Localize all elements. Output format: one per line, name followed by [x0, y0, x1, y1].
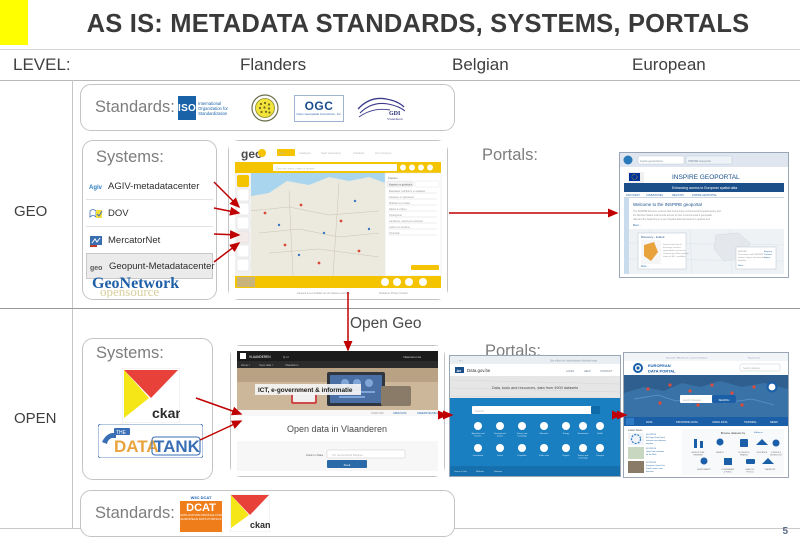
open-systems-label: Systems:	[96, 344, 164, 363]
svg-text:states of EU - available: states of EU - available	[663, 255, 686, 258]
geonetwork-logo-subtext: opensource	[100, 284, 159, 298]
slide-root: AS IS: METADATA STANDARDS, SYSTEMS, PORT…	[0, 0, 800, 546]
svg-text:technology: technology	[517, 435, 526, 438]
svg-text:Open data >: Open data >	[259, 363, 274, 367]
svg-text:OVER ONS: OVER ONS	[371, 412, 384, 415]
svg-text:Search datasets: Search datasets	[743, 367, 761, 370]
svg-text:PROVIDING DATA: PROVIDING DATA	[676, 420, 698, 424]
edp-title-line2: DATA PORTAL	[648, 369, 676, 374]
list-item[interactable]: Agiv AGIV-metadatacenter	[86, 173, 213, 199]
svg-text:Zoek een adres, plaats of perc: Zoek een adres, plaats of perceel	[276, 167, 315, 171]
open-data-search-button: Zoek	[344, 463, 351, 467]
svg-text:Vlaanderen: Vlaanderen	[285, 363, 299, 367]
svg-text:REGISTRY: REGISTRY	[672, 194, 685, 197]
svg-text:Disclaimer Privacy Contact: Disclaimer Privacy Contact	[379, 292, 408, 295]
ckan-logo-text-small: ckan	[250, 520, 270, 530]
svg-text:01/12/2016: 01/12/2016	[646, 462, 657, 464]
open-standards-label: Standards:	[95, 504, 175, 523]
svg-text:TANK: TANK	[154, 437, 201, 456]
iso-logo: ISO International Organization for Stand…	[178, 95, 236, 121]
svg-text:Ondergrond: Ondergrond	[389, 214, 402, 217]
svg-text:Adressen en gebouwen: Adressen en gebouwen	[389, 196, 415, 199]
open-data-banner-text: ICT, e-government & informatie	[258, 387, 353, 394]
svg-text:Vlaanderen.be: Vlaanderen.be	[403, 355, 422, 359]
svg-text:Newsletter FAQ Events Conta: Newsletter FAQ Events Contact Feedback	[666, 357, 708, 360]
european-data-portal-canvas: Newsletter FAQ Events Contact Feedback E…	[624, 353, 788, 477]
column-header-flanders: Flanders	[240, 50, 306, 80]
svg-text:More ...: More ...	[633, 223, 642, 227]
row-label-open: OPEN	[14, 410, 57, 427]
svg-text:the Member States instruments: the Member States instruments access to …	[633, 214, 712, 217]
svg-text:The INSPIRE Directive ensures: The INSPIRE Directive ensures that Commu…	[633, 210, 721, 213]
inspire-geoportal-screenshot[interactable]: inspire-geoportal.ec... INSPIRE Geoporta…	[619, 152, 789, 278]
svg-text:Vb. Gezondheid Belgium: Vb. Gezondheid Belgium	[332, 453, 364, 457]
svg-text:inspire-geoportal.ec...: inspire-geoportal.ec...	[640, 159, 665, 163]
svg-text:Environment: Environment	[578, 432, 589, 435]
svg-text:Discovery - Ireland: Discovery - Ireland	[641, 235, 665, 239]
dcat-badge: W3C DCAT	[180, 494, 222, 501]
page-number: 5	[782, 526, 788, 537]
svg-text:Search and view of: Search and view of	[663, 243, 682, 246]
svg-text:Search: Search	[475, 409, 484, 413]
svg-text:Enhancing access to European s: Enhancing access to European spatial dat…	[672, 186, 737, 190]
svg-text:Q nl: Q nl	[283, 355, 289, 359]
mercatornet-icon	[89, 234, 104, 247]
svg-text:Follow us: Follow us	[754, 432, 762, 434]
svg-text:Website: Website	[476, 470, 485, 473]
column-header-belgian: Belgian	[452, 50, 509, 80]
datagovbe-title-text: Data.gov.be	[467, 368, 491, 373]
geo-standards-logos: ISO International Organization for Stand…	[178, 89, 408, 127]
svg-text:Health: Health	[597, 432, 602, 435]
svg-text:TECHNOLOGY: TECHNOLOGY	[770, 455, 783, 457]
svg-text:Population: Population	[518, 454, 527, 457]
data-gov-be-screenshot[interactable]: ← → ⟳ ⌂ Site officiel de l'administratio…	[449, 355, 621, 477]
svg-text:Kaarten en gebieden: Kaarten en gebieden	[389, 184, 413, 187]
svg-text:Kaart toepassing: Kaart toepassing	[321, 151, 341, 155]
svg-text:ENVIRONMENT: ENVIRONMENT	[697, 469, 711, 471]
svg-text:Landbouw, visserij en economie: Landbouw, visserij en economie	[389, 220, 424, 223]
svg-text:Onderwijs: Onderwijs	[389, 232, 400, 235]
svg-text:Public order: Public order	[539, 454, 549, 457]
svg-text:themes, layers and metadata: themes, layers and metadata	[738, 256, 767, 259]
svg-text:Actualiteit: Actualiteit	[353, 151, 365, 155]
edp-title-line1: EUROPEAN	[648, 363, 671, 368]
open-data-search-label: Zoek in Data	[306, 453, 323, 457]
geo-portals-label: Portals:	[482, 146, 538, 165]
open-geo-transition-label: Open Geo	[350, 315, 422, 333]
svg-text:Discoveries with INSPIRE: Discoveries with INSPIRE	[738, 253, 764, 256]
list-item-label: AGIV-metadatacenter	[108, 181, 199, 192]
svg-text:FISHERIES: FISHERIES	[693, 455, 703, 457]
svg-text:01/12/2016: 01/12/2016	[646, 448, 657, 450]
svg-text:Layers: Layers	[764, 256, 771, 259]
svg-text:Portal creates new: Portal creates new	[646, 467, 663, 470]
open-standards-logos: W3C DCAT DCAT APPLICATION PROFILE FOR EU…	[180, 493, 270, 533]
svg-text:& PUBLIC: & PUBLIC	[724, 472, 733, 474]
svg-text:EDUCATION: EDUCATION	[757, 451, 768, 454]
svg-text:discovery services: discovery services	[663, 246, 682, 249]
svg-text:Vlaanderen: Vlaanderen	[387, 117, 403, 121]
svg-text:FINANCE: FINANCE	[740, 454, 749, 457]
svg-text:INSPIRE: INSPIRE	[738, 251, 747, 253]
datagovbe-tagline-text: Data, tools and resources, data from 490…	[492, 386, 578, 390]
agiv-icon: Agiv	[89, 180, 104, 193]
svg-text:Themes: Themes	[764, 254, 773, 256]
ogc-logo-mark: OGC	[305, 100, 334, 112]
svg-text:Mobiliteit en verkeer: Mobiliteit en verkeer	[389, 202, 411, 205]
svg-text:More ...: More ...	[641, 265, 649, 268]
svg-text:Agiv: Agiv	[89, 185, 103, 191]
european-data-portal-screenshot[interactable]: Newsletter FAQ Events Contact Feedback E…	[623, 352, 789, 478]
inspire-title-text: INSPIRE GEOPORTAL	[672, 174, 740, 181]
inspire-logo	[248, 93, 282, 123]
svg-text:USING DATA: USING DATA	[712, 420, 728, 424]
svg-text:fisheries: fisheries	[474, 435, 481, 438]
svg-text:datasets: datasets	[646, 470, 654, 473]
svg-text:NEWS: NEWS	[770, 420, 778, 424]
column-header-european: European	[632, 50, 706, 80]
svg-text:Welcome to the INSPIRE geoport: Welcome to the INSPIRE geoportal	[633, 202, 702, 207]
svg-text:geo: geo	[90, 265, 102, 272]
inspire-geoportal-canvas: inspire-geoportal.ec... INSPIRE Geoporta…	[620, 153, 788, 277]
list-item[interactable]: DOV	[86, 199, 213, 226]
geo-systems-list: Agiv AGIV-metadatacenter DOV MercatorNet…	[86, 173, 213, 279]
thedatatank-logo[interactable]: THE DATA TANK	[98, 424, 203, 458]
row-label-geo: GEO	[14, 203, 47, 220]
list-item-label: MercatorNet	[108, 235, 160, 246]
svg-text:Education: Education	[540, 432, 548, 435]
svg-text:DATA: DATA	[646, 420, 653, 424]
svg-text:Sitemap: Sitemap	[494, 470, 503, 473]
data-gov-be-canvas: ← → ⟳ ⌂ Site officiel de l'administratio…	[450, 356, 620, 476]
list-item-label: Geopunt-Metadatacenter	[109, 261, 215, 272]
svg-text:Over Geopunt: Over Geopunt	[375, 151, 392, 155]
edp-section-title: Browse datasets by	[721, 431, 746, 435]
svg-text:Start: Start	[279, 151, 285, 155]
dcat-badge-text: W3C DCAT	[191, 495, 212, 500]
dov-icon	[89, 207, 104, 220]
svg-text:Kaarten: Kaarten	[388, 176, 398, 180]
svg-text:Basiskaart, luchtfoto's en kad: Basiskaart, luchtfoto's en kadaster	[389, 190, 426, 193]
svg-text:INSPIRE Geoportal: INSPIRE Geoportal	[688, 159, 711, 163]
svg-text:INSPIRE GEOPORTAL: INSPIRE GEOPORTAL	[692, 194, 718, 197]
edp-sidebar-label: Latest News	[628, 428, 643, 432]
svg-text:Registry: Registry	[738, 259, 747, 262]
svg-text:Terms of Use: Terms of Use	[454, 470, 468, 473]
list-item[interactable]: MercatorNet	[86, 226, 213, 253]
svg-text:VLAANDEREN: VLAANDEREN	[249, 355, 271, 359]
svg-text:releases new datasets: releases new datasets	[646, 439, 666, 442]
page-title: AS IS: METADATA STANDARDS, SYSTEMS, PORT…	[48, 2, 788, 46]
svg-text:DISCOVERY: DISCOVERY	[626, 194, 640, 197]
svg-text:Regions: Regions	[563, 455, 570, 457]
ogc-logo: OGC Open Geospatial Consortium, Inc.	[294, 95, 344, 122]
svg-text:TRANSPORT: TRANSPORT	[764, 468, 776, 471]
column-header-row: LEVEL: Flanders Belgian European	[0, 50, 800, 80]
divider-level-column	[72, 80, 73, 528]
geo-standards-label: Standards:	[95, 98, 175, 117]
ogc-logo-text: Open Geospatial Consortium, Inc.	[296, 112, 341, 116]
svg-text:English (en): English (en)	[748, 358, 760, 360]
svg-text:More ...: More ...	[738, 264, 746, 267]
geonetwork-logo: GeoNetwork opensource	[88, 272, 212, 298]
geopunt-viewer-screenshot[interactable]: geo StartCatalogus Kaart toepassingActua…	[228, 140, 448, 300]
geopunt-icon: geo	[90, 260, 105, 273]
svg-text:Cultuur en toerisme: Cultuur en toerisme	[389, 226, 411, 229]
svg-text:spatial data sets for the: spatial data sets for the	[663, 249, 686, 252]
svg-text:Energy: Energy	[563, 432, 569, 435]
geopunt-viewer-canvas: geo StartCatalogus Kaart toepassingActua…	[229, 141, 447, 299]
svg-text:01/12/2016: 01/12/2016	[646, 434, 657, 436]
ckan-logo-text: ckan	[152, 405, 180, 421]
svg-text:Catalogus: Catalogus	[299, 151, 311, 155]
divider-under-headers	[0, 80, 800, 81]
level-label: LEVEL:	[13, 50, 71, 80]
svg-text:OPEN DATA: OPEN DATA	[393, 412, 407, 415]
open-data-vlaanderen-canvas: VLAANDEREN Q nl Vlaanderen.be Home >Open…	[231, 346, 444, 476]
svg-text:COMMUNITIES: COMMUNITIES	[646, 194, 663, 197]
svg-text:TRAINING: TRAINING	[744, 420, 756, 424]
accent-bar	[0, 0, 28, 45]
dcat-ap-logo: W3C DCAT DCAT APPLICATION PROFILE FOR EU…	[180, 494, 222, 532]
svg-text:Geopunt is een initiatief van: Geopunt is een initiatief van de Vlaamse…	[297, 292, 350, 295]
svg-text:FOOD &: FOOD &	[747, 472, 755, 474]
dcat-logo-text: APPLICATION PROFILE FOR EUROPEAN DATA PO…	[180, 514, 222, 521]
svg-text:LOGIN: LOGIN	[566, 369, 574, 373]
geo-systems-label: Systems:	[96, 148, 164, 167]
svg-text:together: together	[646, 442, 654, 445]
svg-text:← → ⟳ ⌂: ← → ⟳ ⌂	[453, 360, 464, 363]
svg-text:Site officiel de l'administrat: Site officiel de l'administration fédéra…	[550, 360, 598, 363]
svg-text:Natuur en milieu: Natuur en milieu	[389, 208, 407, 211]
open-data-heading-text: Open data in Vlaanderen	[287, 424, 387, 434]
svg-text:Open Data solutions: Open Data solutions	[646, 450, 664, 453]
svg-text:finance: finance	[497, 436, 503, 438]
svg-text:Justice: Justice	[497, 454, 503, 457]
iso-logo-mark: ISO	[178, 96, 196, 120]
svg-text:Transport: Transport	[596, 454, 604, 457]
edp-search-button: SEARCH	[719, 398, 730, 402]
svg-text:Community of the member: Community of the member	[663, 252, 689, 255]
svg-text:THE: THE	[116, 430, 127, 436]
svg-text:HELP: HELP	[584, 369, 591, 373]
svg-text:International: International	[473, 454, 484, 457]
svg-text:EU Open Data Portal: EU Open Data Portal	[646, 436, 665, 439]
open-data-vlaanderen-screenshot[interactable]: VLAANDEREN Q nl Vlaanderen.be Home >Open…	[230, 345, 445, 477]
svg-text:Registry: Registry	[764, 250, 773, 253]
list-item-label: DOV	[108, 208, 129, 219]
ckan-logo: ckan	[230, 494, 270, 532]
svg-text:.be: .be	[456, 369, 461, 373]
svg-text:technology: technology	[578, 457, 587, 460]
ckan-logo[interactable]: ckan	[122, 368, 180, 423]
svg-text:CONTACT: CONTACT	[600, 369, 613, 373]
divider-geo-open	[0, 308, 800, 309]
svg-text:European Open Data: European Open Data	[646, 464, 666, 467]
svg-text:search datasets: search datasets	[683, 398, 702, 402]
svg-text:Home >: Home >	[241, 363, 251, 367]
svg-text:ENERGY: ENERGY	[716, 452, 724, 454]
gdi-vlaanderen-logo: GDI Vlaanderen	[356, 93, 408, 123]
svg-text:data and the beginning to a se: data and the beginning to a set of spati…	[633, 218, 710, 221]
svg-text:ONDERSTEUNING: ONDERSTEUNING	[417, 412, 438, 415]
svg-text:for the Web: for the Web	[646, 453, 657, 456]
iso-logo-text: International Organization for Standardi…	[196, 101, 236, 116]
